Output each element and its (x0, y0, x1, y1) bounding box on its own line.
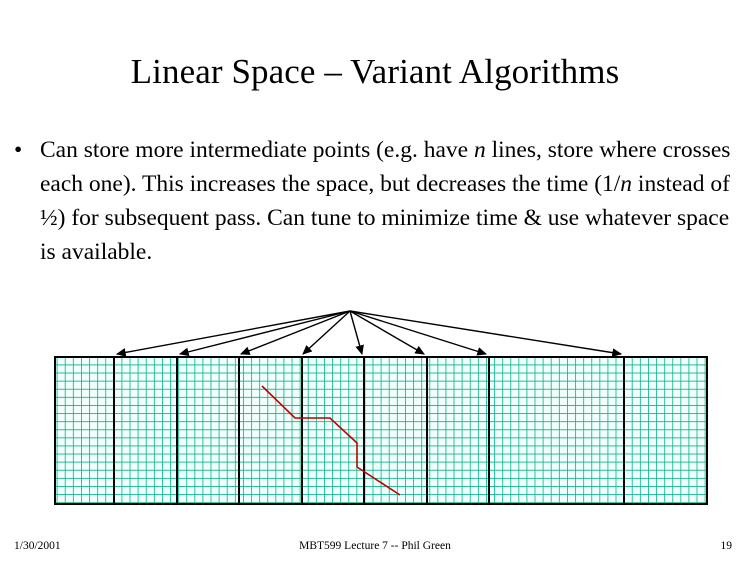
footer-page-number: 19 (721, 538, 733, 554)
slide-footer: 1/30/2001 MBT599 Lecture 7 -- Phil Green… (0, 538, 750, 558)
presentation-slide: Linear Space – Variant Algorithms • Can … (0, 0, 750, 562)
arrow-to-divider-4 (303, 311, 350, 354)
arrow-to-divider-2 (180, 311, 350, 354)
list-item: • Can store more intermediate points (e.… (14, 133, 736, 269)
arrow-to-divider-8 (350, 311, 621, 354)
arrow-to-divider-3 (241, 311, 350, 354)
arrow-to-divider-7 (350, 311, 486, 354)
alignment-path-line (262, 386, 400, 495)
arrow-to-divider-6 (350, 311, 424, 354)
grid-panel (55, 357, 707, 504)
arrow-to-divider-1 (117, 311, 350, 354)
arrow-to-divider-5 (350, 311, 362, 354)
grid-border (55, 357, 707, 504)
bullet-marker: • (14, 133, 40, 167)
footer-center-text: MBT599 Lecture 7 -- Phil Green (0, 538, 750, 554)
grid-cells (55, 357, 707, 504)
slide-body: • Can store more intermediate points (e.… (14, 133, 736, 269)
grid-dividers (114, 357, 624, 504)
bullet-text: Can store more intermediate points (e.g.… (40, 133, 736, 269)
pointer-arrows (117, 311, 621, 354)
page-title: Linear Space – Variant Algorithms (0, 51, 750, 93)
